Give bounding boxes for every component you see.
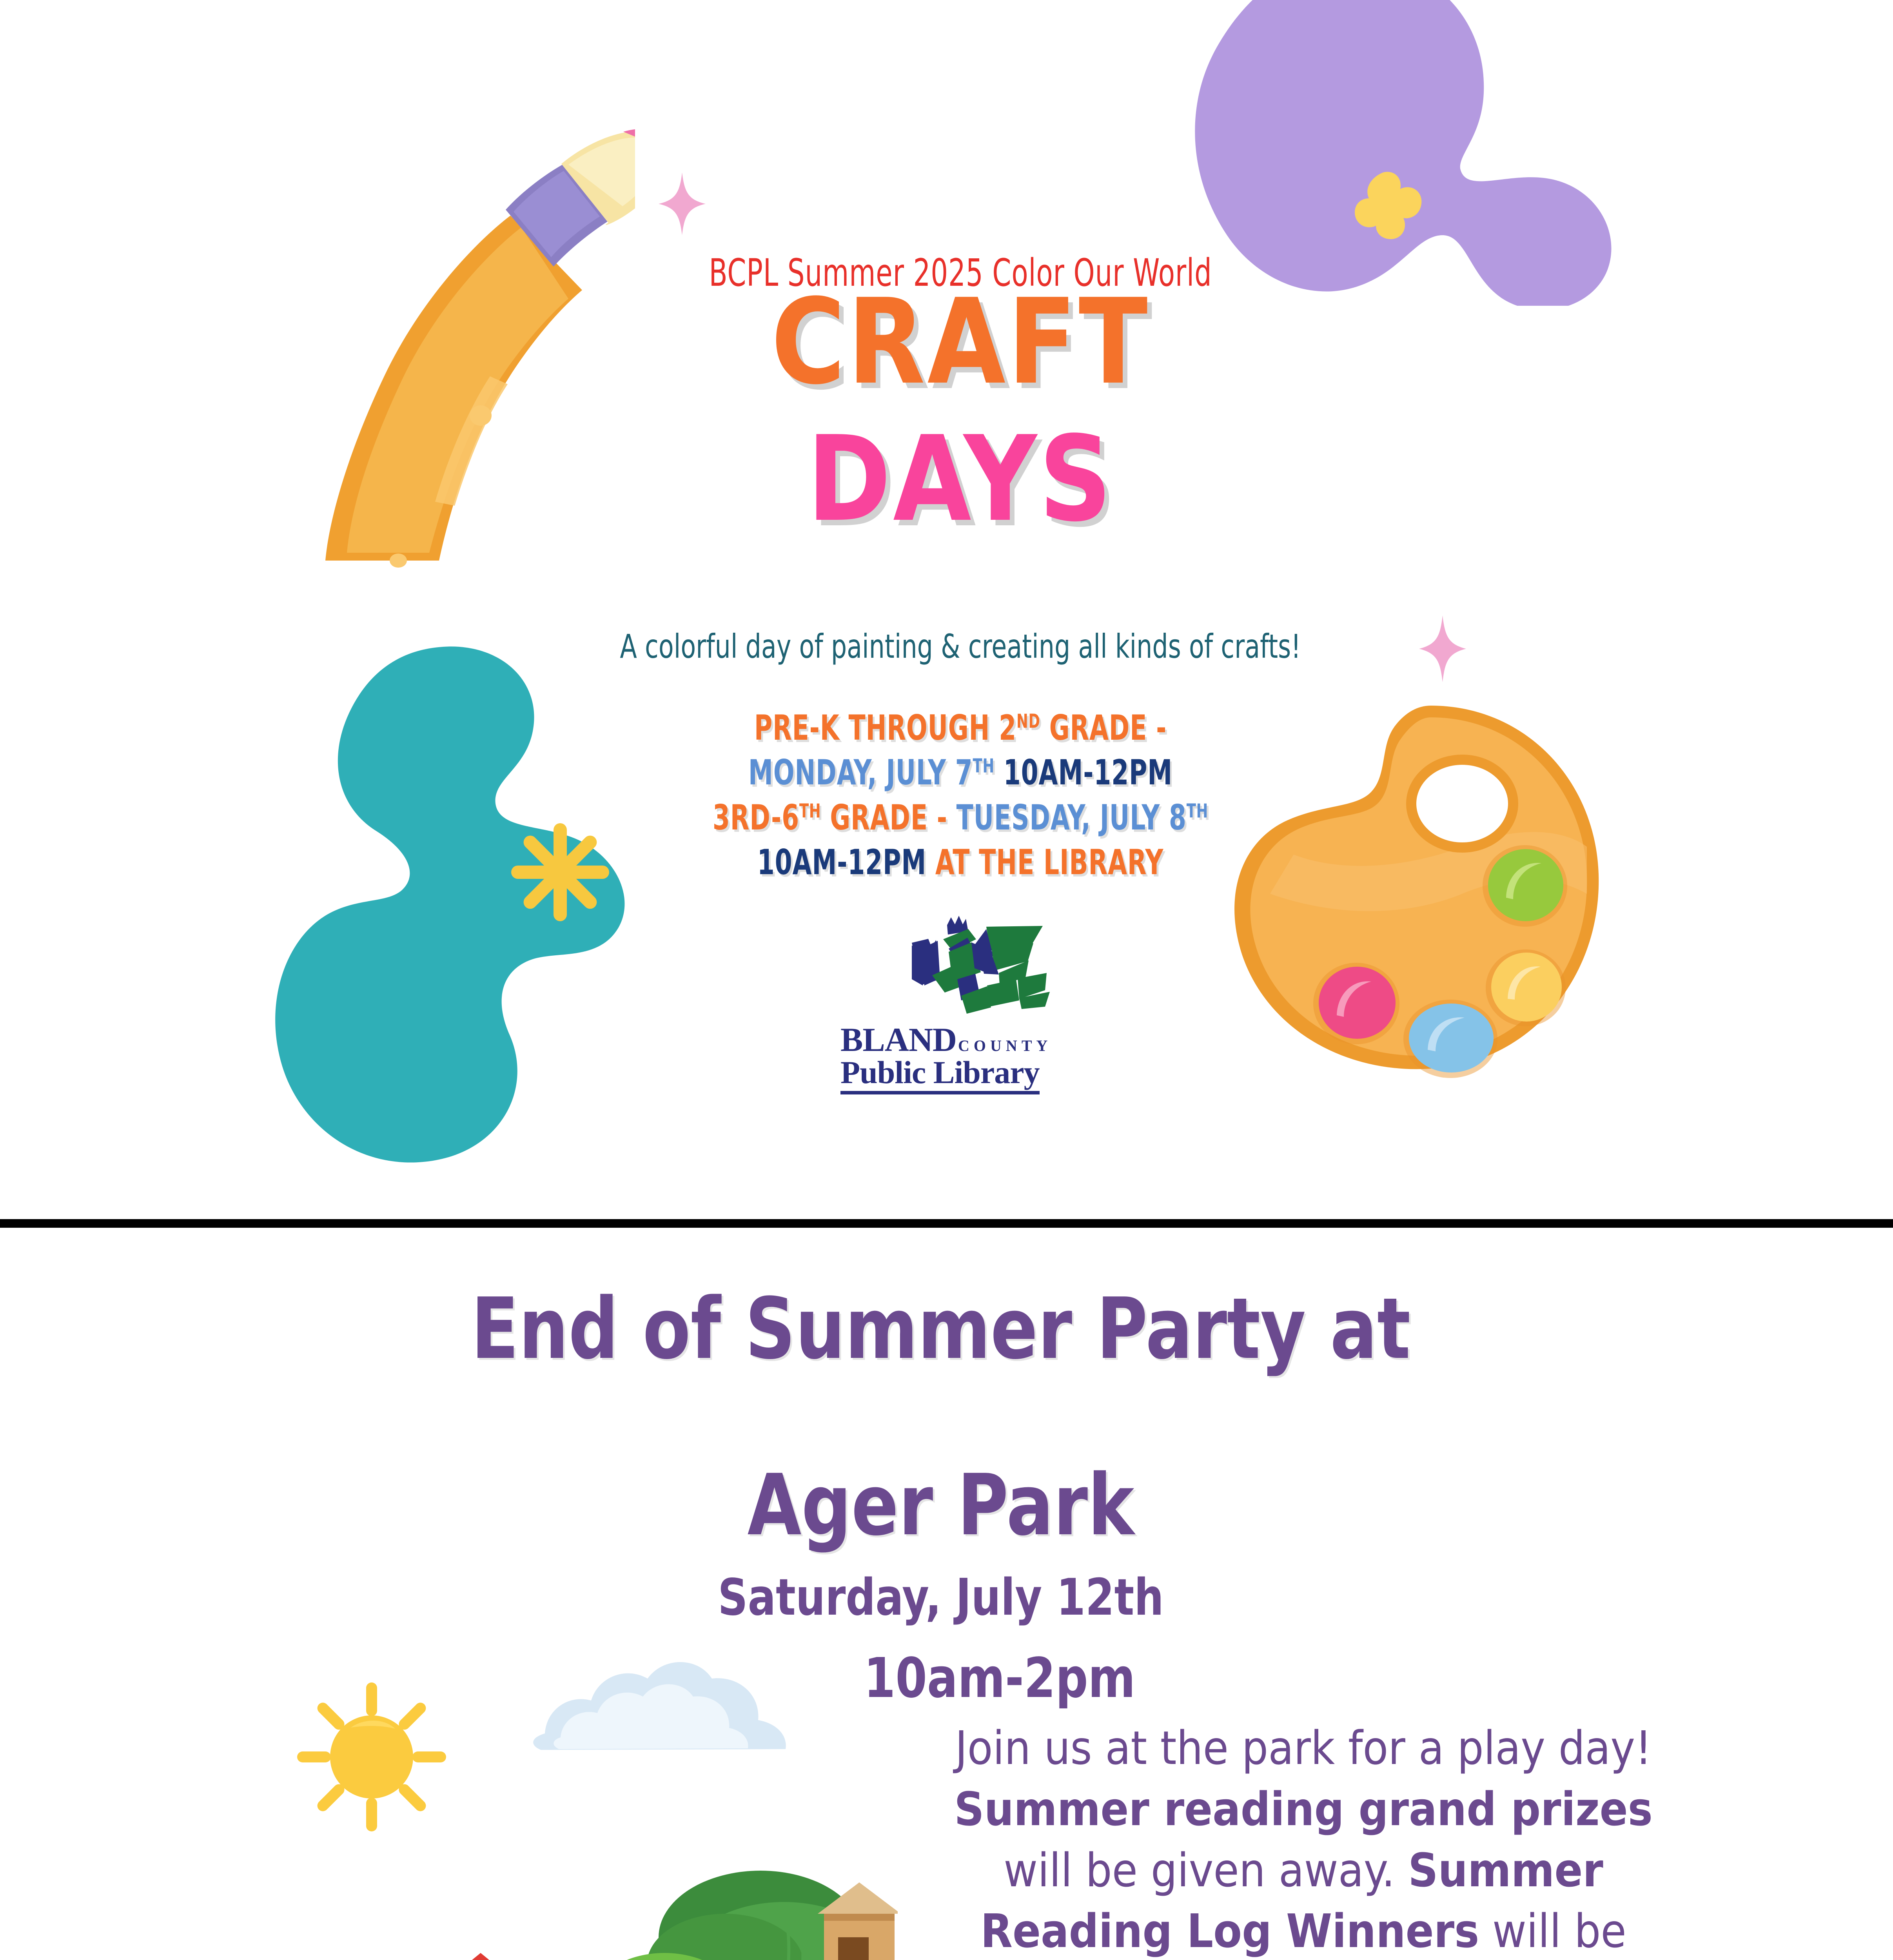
party-venue: Ager Park — [220, 1463, 1662, 1547]
grade-tail-1: GRADE - — [1040, 708, 1167, 748]
grade-tail-2: GRADE - — [821, 797, 956, 838]
event-time-2: 10AM-12PM — [757, 842, 926, 882]
schedule-line-4: 10AM-12PM AT THE LIBRARY — [518, 840, 1403, 885]
panel-divider — [0, 1219, 1893, 1228]
logo-county-text: COUNTY — [956, 1038, 1052, 1054]
library-logo-top: BLAND COUNTY Public Library — [835, 902, 1054, 1094]
palette-well-yellow — [1491, 953, 1562, 1022]
pink-sparkle — [1419, 615, 1466, 682]
cloud-icon — [533, 1662, 786, 1750]
grade-ordinal-1: ND — [1016, 710, 1040, 733]
playground-park-illustration — [270, 1639, 898, 1960]
palette-well-pink — [1319, 967, 1396, 1039]
desc-seg-3: will be given away. — [1004, 1843, 1408, 1897]
grade-range-2: 3RD-6 — [713, 797, 799, 838]
subtitle-text: A colorful day of painting & creating al… — [529, 627, 1392, 666]
party-description: Join us at the park for a play day! Summ… — [921, 1718, 1686, 1960]
event-location: AT THE LIBRARY — [935, 842, 1163, 882]
end-of-summer-panel: End of Summer Party at Ager Park Saturda… — [0, 1228, 1893, 1960]
craft-days-panel: BCPL Summer 2025 Color Our World CRAFT D… — [0, 0, 1893, 1219]
desc-bold-grand-prizes: Summer reading grand prizes — [954, 1782, 1653, 1836]
schedule-line-3: 3RD-6TH GRADE - TUESDAY, JULY 8TH — [518, 795, 1403, 840]
party-title: End of Summer Party at — [220, 1287, 1662, 1371]
day-ordinal-2: TH — [1187, 799, 1208, 822]
title-days: DAYS — [519, 423, 1402, 535]
grade-ordinal-2: TH — [799, 799, 821, 822]
event-time-1: 10AM-12PM — [1004, 752, 1172, 793]
palette-well-blue — [1409, 1004, 1494, 1073]
schedule-line-2: MONDAY, JULY 7TH 10AM-12PM — [518, 750, 1403, 795]
schedule-line-1: PRE-K THROUGH 2ND GRADE - — [518, 706, 1403, 750]
flyer-page: BCPL Summer 2025 Color Our World CRAFT D… — [0, 0, 1893, 1960]
title-craft: CRAFT — [519, 286, 1402, 398]
background-trees — [311, 1871, 882, 1960]
pink-sparkle — [659, 172, 706, 235]
event-day-1: MONDAY, JULY 7 — [748, 752, 973, 793]
yellow-flower-shape — [1349, 169, 1431, 255]
party-date: Saturday, July 12th — [220, 1573, 1662, 1623]
logo-bland-text: BLAND — [840, 1023, 956, 1056]
grade-range-1: PRE-K THROUGH 2 — [754, 708, 1016, 748]
logo-public-library-text: Public Library — [840, 1056, 1040, 1094]
desc-seg-1: Join us at the park for a play day! — [955, 1721, 1652, 1775]
event-day-2: TUESDAY, JULY 8 — [956, 797, 1187, 838]
day-ordinal-1: TH — [973, 755, 994, 777]
palette-well-green — [1488, 849, 1563, 921]
sun-icon — [297, 1682, 446, 1831]
schedule-block: PRE-K THROUGH 2ND GRADE - MONDAY, JULY 7… — [518, 706, 1403, 885]
